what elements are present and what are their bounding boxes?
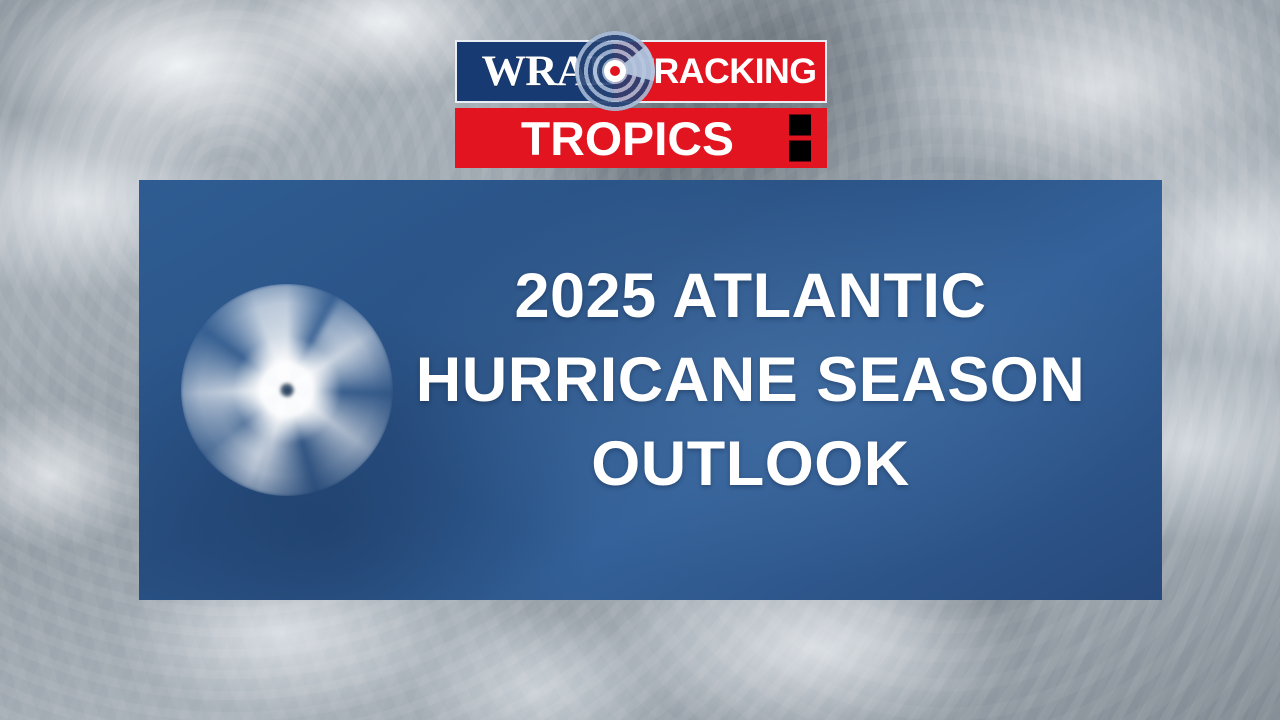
- title-panel: 2025 ATLANTIC HURRICANE SEASON OUTLOOK: [139, 180, 1162, 600]
- broadcast-graphic-stage: WRAL TRACKING TROPICS 2025 ATLANTIC HU: [0, 0, 1280, 720]
- page-title-line-1: 2025 ATLANTIC: [361, 254, 1140, 338]
- page-title-line-2: HURRICANE SEASON: [361, 338, 1140, 422]
- radar-sweep-icon: [575, 31, 655, 111]
- logo-block-mark-2: [789, 141, 811, 162]
- logo-tropics-label: TROPICS: [521, 115, 734, 162]
- page-title: 2025 ATLANTIC HURRICANE SEASON OUTLOOK: [139, 254, 1162, 506]
- logo-block-mark-1: [789, 115, 811, 136]
- wral-tracking-tropics-logo: WRAL TRACKING TROPICS: [455, 40, 827, 168]
- logo-tropics-bar: TROPICS: [455, 108, 827, 168]
- logo-block-marks: [789, 115, 811, 162]
- radar-center-dot: [610, 66, 620, 76]
- page-title-line-3: OUTLOOK: [361, 422, 1140, 506]
- logo-tracking-label: TRACKING: [632, 54, 816, 89]
